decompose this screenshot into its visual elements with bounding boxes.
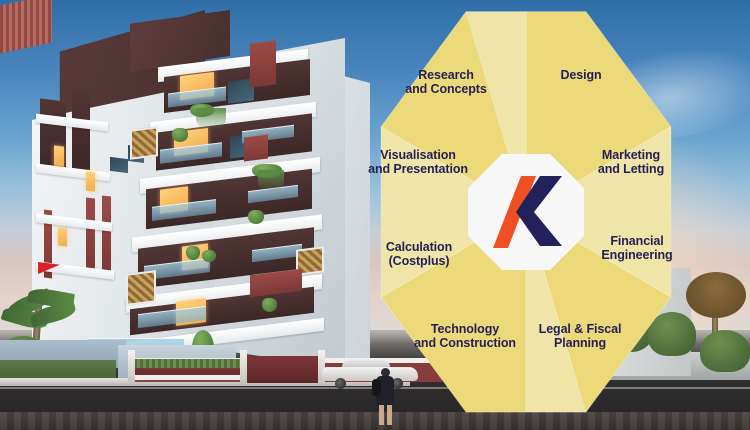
jali-screen-upper — [130, 126, 158, 159]
window-left-4 — [110, 157, 128, 173]
window-lit-left-2 — [86, 171, 95, 191]
gate-post-mid — [240, 350, 247, 384]
hub[interactable] — [468, 154, 584, 270]
services-octagon-diagram: Research and Concepts Design Visualisati… — [326, 6, 726, 416]
window-lit-left-3 — [58, 227, 67, 246]
louver-red-mid — [244, 135, 268, 162]
screenshot-canvas: Research and Concepts Design Visualisati… — [0, 0, 750, 430]
balcony-plant-1 — [262, 298, 277, 312]
facade-accent-red-3 — [102, 195, 111, 272]
window-lit-left-1 — [54, 145, 64, 166]
louver-red-top — [250, 40, 276, 87]
balcony-plant-2 — [186, 246, 200, 260]
jali-screen-lower — [126, 270, 156, 306]
balcony-vine-5 — [196, 108, 226, 130]
boundary-fence-panel — [243, 356, 323, 383]
balcony-plant-3 — [248, 210, 264, 224]
octagon-svg — [326, 6, 726, 416]
gate-post-left — [128, 350, 135, 384]
balcony-plant-2b — [202, 250, 216, 262]
facade-accent-red-2 — [86, 197, 95, 274]
balcony-vine-4 — [258, 170, 284, 192]
facade-accent-dark-2 — [72, 89, 90, 171]
balcony-plant-4 — [172, 128, 188, 142]
